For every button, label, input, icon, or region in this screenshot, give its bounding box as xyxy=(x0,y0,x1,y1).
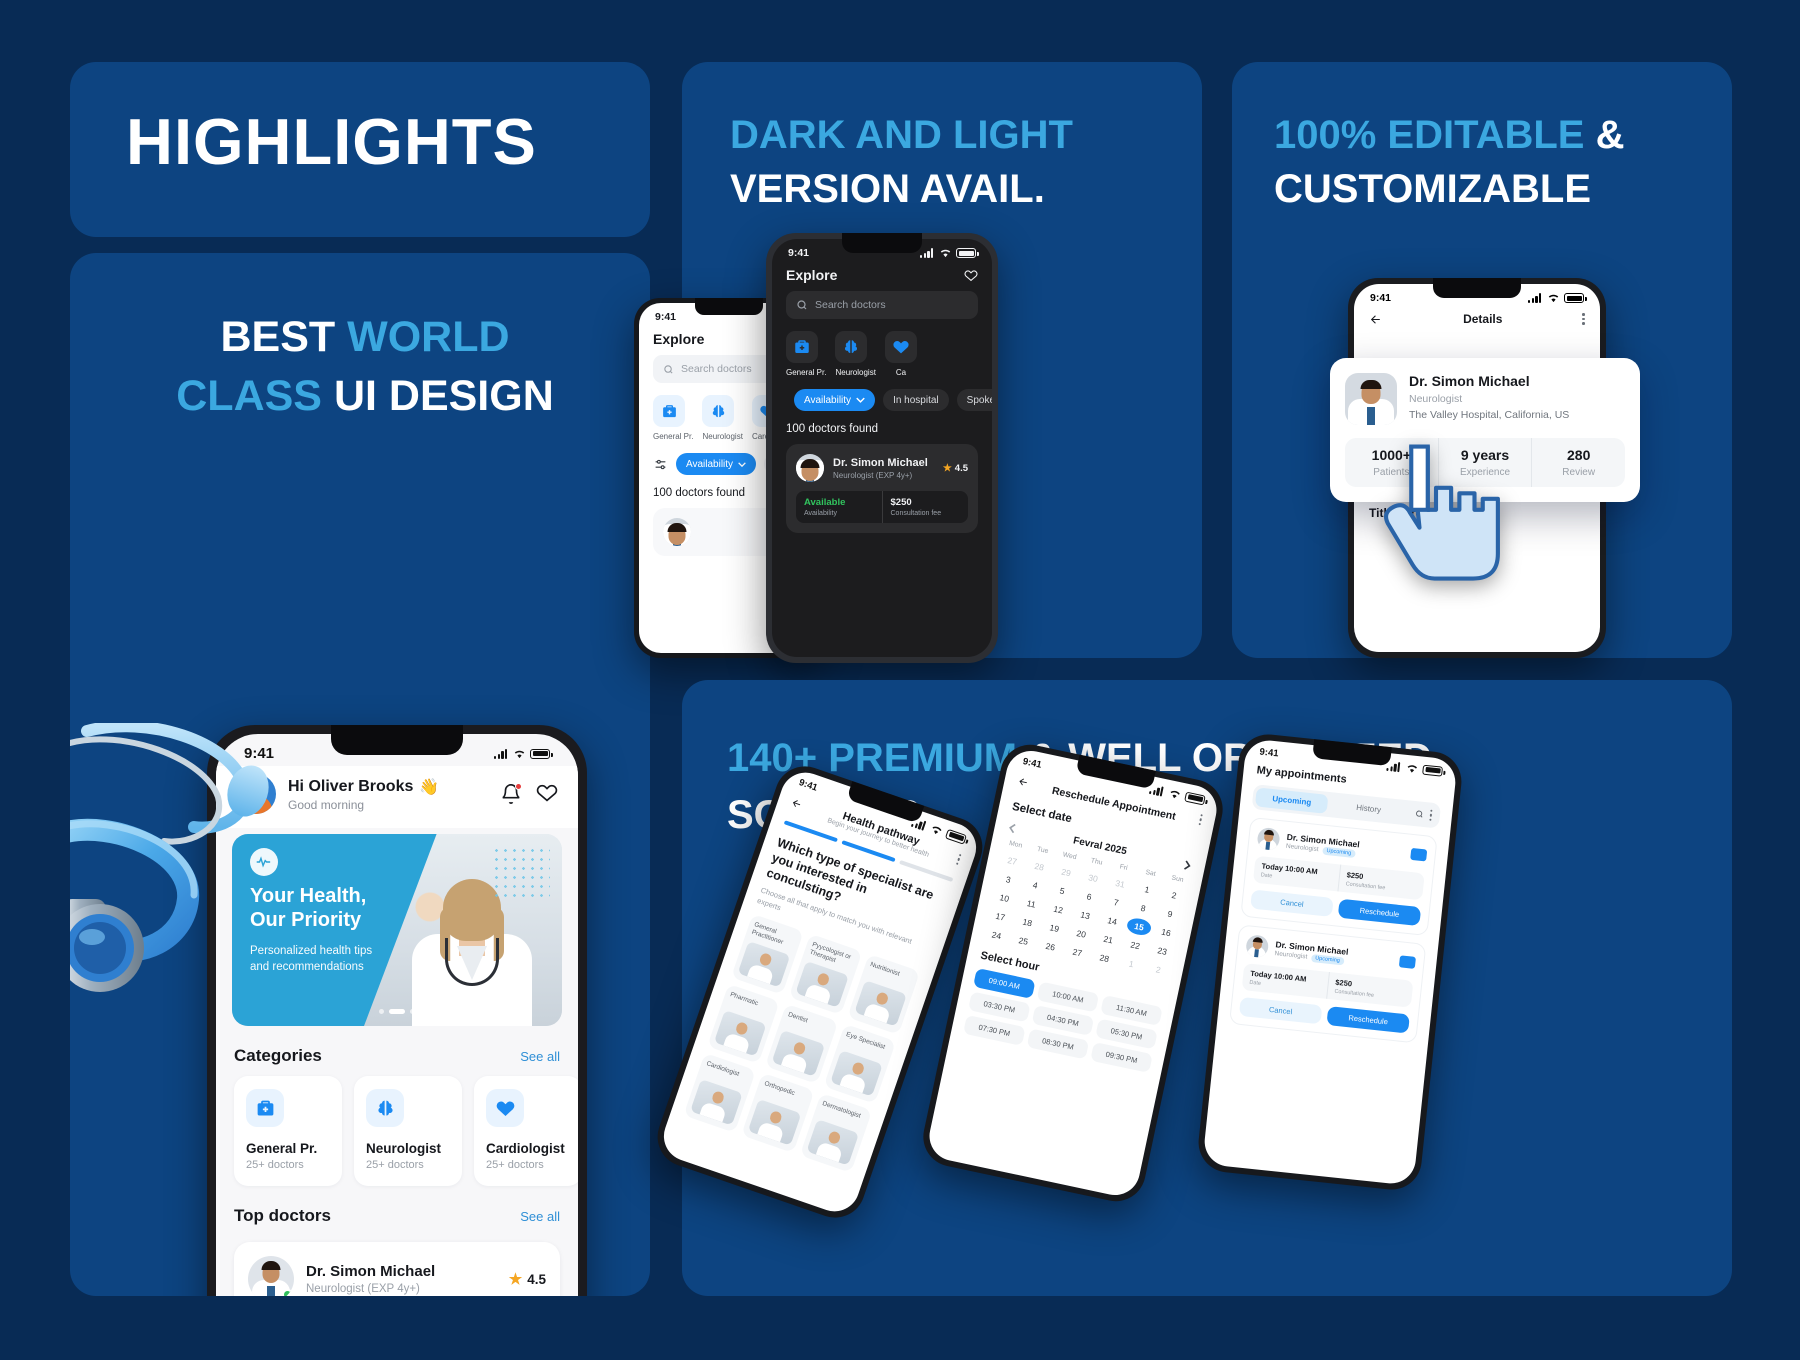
category-neurologist[interactable]: Neurologist xyxy=(835,331,875,377)
signal-icon xyxy=(494,749,509,759)
search-placeholder: Search doctors xyxy=(815,299,886,311)
spoken-chip[interactable]: Spoken l xyxy=(957,389,992,411)
editable-line1-a: 100% EDITABLE xyxy=(1274,113,1584,157)
details-title: Details xyxy=(1463,312,1502,326)
signal-icon xyxy=(920,248,935,258)
category-general[interactable]: General Pr. xyxy=(653,395,693,441)
doctor-name: Dr. Simon Michael xyxy=(1409,373,1569,389)
calendar-weekday: Wed xyxy=(1056,850,1082,864)
star-icon: ★ xyxy=(509,1270,522,1288)
calendar-day[interactable]: 29 xyxy=(1053,862,1080,883)
availability-value: Available xyxy=(804,497,874,508)
explore-dark-screen: 9:41 Explore Search doctors General Pr. xyxy=(772,239,992,657)
calendar-weekday: Thu xyxy=(1083,856,1109,870)
tab-upcoming[interactable]: Upcoming xyxy=(1255,787,1329,813)
doctor-avatar xyxy=(1245,934,1269,958)
calendar-day[interactable]: 5 xyxy=(1049,881,1076,902)
best-line1-a: BEST xyxy=(220,313,347,361)
rating-value: 4.5 xyxy=(955,463,968,474)
fee-cell: $250 Consultation fee xyxy=(1337,864,1425,900)
calendar-weekday: Sat xyxy=(1137,867,1163,881)
categories-row: General Pr. Neurologist Ca xyxy=(772,319,992,377)
banner-pulse-icon xyxy=(250,848,278,876)
category-general[interactable]: General Pr. xyxy=(786,331,826,377)
calendar-day[interactable]: 11 xyxy=(1018,893,1045,914)
wave-icon: 👋 xyxy=(419,777,439,797)
star-icon: ★ xyxy=(943,463,952,474)
categories-see-all[interactable]: See all xyxy=(520,1049,560,1064)
greeting-name-text: Hi Oliver Brooks xyxy=(288,778,413,796)
calendar-day[interactable]: 14 xyxy=(1099,911,1126,932)
highlights-title: HIGHLIGHTS xyxy=(126,104,537,179)
filter-icon[interactable] xyxy=(653,458,668,471)
fee-cell: $250 Consultation fee xyxy=(882,491,969,523)
category-count: 25+ doctors xyxy=(246,1159,330,1171)
availability-label: Availability xyxy=(804,510,874,517)
doctor-avatar xyxy=(1256,827,1280,851)
category-label: Neurologist xyxy=(835,368,875,377)
search-input[interactable]: Search doctors xyxy=(786,291,978,319)
doctor-name: Dr. Simon Michael xyxy=(306,1263,435,1280)
category-neurologist[interactable]: Neurologist xyxy=(702,395,742,441)
medical-bag-icon xyxy=(786,331,818,363)
greeting-block: Hi Oliver Brooks 👋 Good morning xyxy=(288,777,488,812)
status-time: 9:41 xyxy=(1259,747,1279,760)
category-label: Ca xyxy=(885,368,917,377)
panel-best-world-class: BEST WORLD CLASS UI DESIGN 9:41 xyxy=(70,253,650,1296)
doctor-card[interactable]: Dr. Simon Michael Neurologist (EXP 4y+) … xyxy=(786,444,978,533)
medical-bag-icon xyxy=(653,395,685,427)
home-screen: 9:41 Hi Oliver Brooks 👋 xyxy=(216,734,578,1296)
chip-label: In hospital xyxy=(893,395,939,406)
showcase-stage: HIGHLIGHTS BEST WORLD CLASS UI DESIGN 9:… xyxy=(0,0,1800,1360)
dark-light-line1: DARK AND LIGHT xyxy=(730,113,1073,157)
brain-icon xyxy=(366,1089,404,1127)
signal-icon xyxy=(1386,760,1402,772)
doctor-specialty: Neurologist (EXP 4y+) xyxy=(833,471,928,480)
doctor-avatar xyxy=(248,1256,294,1296)
more-vertical-icon[interactable] xyxy=(1429,809,1433,821)
status-time: 9:41 xyxy=(244,745,274,762)
status-icons xyxy=(920,247,976,259)
status-time: 9:41 xyxy=(788,247,809,259)
appointment-card[interactable]: Dr. Simon Michael Neurologist Upcoming T… xyxy=(1240,817,1437,936)
categories-section-header: Categories See all xyxy=(216,1026,578,1076)
calendar-day[interactable]: 23 xyxy=(1149,941,1176,962)
signal-icon xyxy=(1528,293,1543,303)
calendar-weekday: Sun xyxy=(1164,873,1190,887)
dark-light-line2: VERSION AVAIL. xyxy=(730,167,1045,211)
doctor-card[interactable]: Dr. Simon Michael Neurologist (EXP 4y+) … xyxy=(234,1242,560,1296)
chip-label: Availability xyxy=(804,395,851,406)
phone-notch xyxy=(695,298,763,315)
fee-value: $250 xyxy=(891,497,961,508)
category-count: 25+ doctors xyxy=(486,1159,570,1171)
status-icons xyxy=(494,749,550,759)
best-world-class-title: BEST WORLD CLASS UI DESIGN xyxy=(130,308,600,427)
category-name: General Pr. xyxy=(246,1141,330,1156)
status-time: 9:41 xyxy=(1370,292,1391,304)
category-label: General Pr. xyxy=(653,432,693,441)
explore-header: Explore xyxy=(772,261,992,291)
info-card-top: Dr. Simon Michael Neurologist The Valley… xyxy=(1345,373,1625,425)
calendar-day[interactable]: 17 xyxy=(987,906,1014,927)
calendar-day[interactable]: 27 xyxy=(999,851,1026,872)
banner-pagination[interactable] xyxy=(379,1009,415,1014)
editable-title: 100% EDITABLE & CUSTOMIZABLE xyxy=(1274,108,1704,216)
heart-icon[interactable] xyxy=(536,781,558,808)
doctor-specialty: Neurologist xyxy=(1285,843,1318,853)
best-line2-a: CLASS xyxy=(176,372,334,420)
banner-sub-2: and recommendations xyxy=(250,959,372,976)
calendar-day[interactable]: 19 xyxy=(1041,918,1068,939)
category-label: Neurologist xyxy=(702,432,742,441)
doctor-rating: ★ 4.5 xyxy=(509,1270,546,1288)
calendar-day[interactable]: 8 xyxy=(1129,898,1156,919)
details-toolbar: Details xyxy=(1354,306,1600,336)
brain-icon xyxy=(702,395,734,427)
stat-review: 280 Review xyxy=(1531,438,1625,487)
calendar-day[interactable]: 22 xyxy=(1122,935,1149,956)
phone-notch xyxy=(842,233,922,253)
category-name: Cardiologist xyxy=(486,1141,570,1156)
screens-line1-a: 140+ PREMIUM xyxy=(727,736,1017,780)
editable-line2: CUSTOMIZABLE xyxy=(1274,167,1591,211)
wifi-icon xyxy=(1168,788,1183,800)
battery-icon xyxy=(1184,791,1206,805)
fee-label: Consultation fee xyxy=(891,510,961,517)
calendar-day[interactable]: 18 xyxy=(1014,912,1041,933)
calendar-weekday: Mon xyxy=(1003,839,1029,853)
calendar-day[interactable]: 20 xyxy=(1068,923,1095,944)
battery-icon xyxy=(956,248,976,258)
top-doctors-section-header: Top doctors See all xyxy=(216,1186,578,1236)
explore-title: Explore xyxy=(786,267,837,283)
calendar-day[interactable]: 28 xyxy=(1026,856,1053,877)
user-avatar[interactable] xyxy=(236,774,276,814)
date-cell: Today 10:00 AM Date xyxy=(1253,856,1340,892)
wifi-icon xyxy=(1405,762,1419,773)
greeting-name: Hi Oliver Brooks 👋 xyxy=(288,777,488,797)
banner-text: Your Health, Our Priority Personalized h… xyxy=(250,884,372,976)
wifi-icon xyxy=(939,248,952,258)
category-card-general[interactable]: General Pr. 25+ doctors xyxy=(234,1076,342,1186)
cursor-pointer-icon xyxy=(1370,430,1535,595)
chevron-left-icon[interactable] xyxy=(1008,822,1017,833)
category-count: 25+ doctors xyxy=(366,1159,450,1171)
search-icon[interactable] xyxy=(1414,809,1424,819)
doctor-card-footer: Available Availability $250 Consultation… xyxy=(796,491,968,523)
brain-icon xyxy=(835,331,867,363)
chevron-right-icon[interactable] xyxy=(1183,859,1192,870)
calendar-day[interactable]: 30 xyxy=(1079,868,1106,889)
wifi-icon xyxy=(513,749,526,759)
results-count: 100 doctors found xyxy=(772,411,992,435)
fee-cell: $250 Consultation fee xyxy=(1326,972,1414,1008)
doctor-specialty: Neurologist xyxy=(1274,950,1307,960)
categories-title: Categories xyxy=(234,1046,322,1066)
categories-row: General Pr. 25+ doctors Neurologist 25+ … xyxy=(216,1076,578,1186)
cancel-button[interactable]: Cancel xyxy=(1250,889,1334,916)
home-header: Hi Oliver Brooks 👋 Good morning xyxy=(216,766,578,828)
calendar-day[interactable]: 31 xyxy=(1106,873,1133,894)
calendar-day[interactable]: 12 xyxy=(1045,899,1072,920)
banner-sub-1: Personalized health tips xyxy=(250,943,372,960)
chip-label: Availability xyxy=(686,459,733,470)
doctor-specialty: Neurologist (EXP 4y+) xyxy=(306,1283,435,1295)
specialist-option[interactable]: Orthopedic xyxy=(742,1072,815,1152)
appointments-screen: 9:41 My appointments Upcoming History xyxy=(1202,738,1458,1186)
calendar-day[interactable]: 3 xyxy=(995,869,1022,890)
status-icons xyxy=(1528,292,1584,304)
specialist-option[interactable]: Dentist xyxy=(765,1003,838,1083)
tab-history[interactable]: History xyxy=(1332,795,1406,821)
doctor-specialty: Neurologist xyxy=(1409,393,1569,405)
back-arrow-icon[interactable] xyxy=(1369,313,1383,326)
dark-light-title: DARK AND LIGHT VERSION AVAIL. xyxy=(730,108,1160,216)
calendar-day[interactable]: 2 xyxy=(1160,885,1187,906)
calendar-day[interactable]: 1 xyxy=(1133,879,1160,900)
availability-chip[interactable]: Availability xyxy=(676,453,756,475)
category-name: Neurologist xyxy=(366,1141,450,1156)
calendar-day[interactable]: 15 xyxy=(1126,916,1153,937)
signal-icon xyxy=(1149,784,1166,797)
phone-notch xyxy=(331,725,463,755)
category-card-cardiologist[interactable]: Cardiologist 25+ doctors xyxy=(474,1076,578,1186)
calendar-day[interactable]: 7 xyxy=(1103,892,1130,913)
calendar-day[interactable]: 10 xyxy=(991,888,1018,909)
battery-icon xyxy=(1564,293,1584,303)
bell-icon[interactable] xyxy=(500,783,522,805)
doctor-avatar xyxy=(796,454,824,482)
calendar-day[interactable]: 21 xyxy=(1095,929,1122,950)
calendar-weekday: Fri xyxy=(1110,862,1136,876)
cancel-button[interactable]: Cancel xyxy=(1239,997,1323,1024)
doctor-name: Dr. Simon Michael xyxy=(833,457,928,469)
specialist-option[interactable]: Nutritionist xyxy=(847,954,920,1034)
doctor-card-top: Dr. Simon Michael Neurologist (EXP 4y+) … xyxy=(248,1256,546,1296)
editable-line1-b: & xyxy=(1584,113,1624,157)
availability-chip[interactable]: Availability xyxy=(794,389,875,411)
heart-pulse-icon xyxy=(486,1089,524,1127)
heart-pulse-icon xyxy=(885,331,917,363)
specialist-option[interactable]: Eye Specialist xyxy=(823,1023,896,1103)
category-cardiologist[interactable]: Ca xyxy=(885,331,917,377)
doctor-hospital: The Valley Hospital, California, US xyxy=(1409,409,1569,421)
chevron-down-icon xyxy=(738,462,746,467)
hospital-chip[interactable]: In hospital xyxy=(883,389,949,411)
home-banner[interactable]: Your Health, Our Priority Personalized h… xyxy=(232,834,562,1026)
top-doctors-title: Top doctors xyxy=(234,1206,331,1226)
calendar-day[interactable]: 13 xyxy=(1072,905,1099,926)
phone-my-appointments: 9:41 My appointments Upcoming History xyxy=(1196,731,1465,1192)
stat-value: 280 xyxy=(1536,447,1621,463)
search-icon xyxy=(663,364,674,375)
wifi-icon xyxy=(929,823,945,837)
medical-bag-icon xyxy=(246,1089,284,1127)
phone-notch xyxy=(1433,278,1521,298)
best-line1-b: WORLD xyxy=(347,313,509,361)
phone-explore-dark: 9:41 Explore Search doctors General Pr. xyxy=(766,233,998,663)
best-line2-b: UI DESIGN xyxy=(334,372,554,420)
category-card-neurologist[interactable]: Neurologist 25+ doctors xyxy=(354,1076,462,1186)
banner-dot-pattern xyxy=(492,846,550,898)
header-icons xyxy=(500,781,558,808)
video-call-icon[interactable] xyxy=(1410,848,1427,862)
calendar-day[interactable]: 16 xyxy=(1152,922,1179,943)
status-time: 9:41 xyxy=(655,311,676,323)
search-icon xyxy=(796,299,808,311)
appointment-card[interactable]: Dr. Simon Michael Neurologist Upcoming T… xyxy=(1229,924,1426,1043)
filter-row: Availability In hospital Spoken l xyxy=(772,377,992,411)
doctor-avatar xyxy=(1345,373,1397,425)
battery-icon xyxy=(530,749,550,759)
reschedule-button[interactable]: Reschedule xyxy=(1326,1006,1410,1033)
calendar-day[interactable]: 9 xyxy=(1156,904,1183,925)
specialist-option[interactable]: Dermatologist xyxy=(800,1092,873,1172)
greeting-subtitle: Good morning xyxy=(288,798,488,812)
chip-label: Spoken l xyxy=(967,395,992,406)
heart-icon[interactable] xyxy=(964,268,978,282)
search-placeholder: Search doctors xyxy=(681,363,752,375)
calendar-day[interactable]: 6 xyxy=(1076,886,1103,907)
battery-icon xyxy=(1422,764,1443,776)
chevron-down-icon xyxy=(856,397,865,403)
doctor-card-top: Dr. Simon Michael Neurologist (EXP 4y+) … xyxy=(796,454,968,482)
availability-cell: Available Availability xyxy=(796,491,882,523)
doctor-rating: ★ 4.5 xyxy=(943,463,968,474)
reschedule-button[interactable]: Reschedule xyxy=(1338,899,1422,926)
video-call-icon[interactable] xyxy=(1399,955,1416,969)
date-cell: Today 10:00 AM Date xyxy=(1242,963,1329,999)
calendar-weekday: Tue xyxy=(1029,845,1055,859)
category-label: General Pr. xyxy=(786,368,826,377)
banner-title-1: Your Health, xyxy=(250,884,372,908)
rating-value: 4.5 xyxy=(527,1272,546,1287)
panel-highlights: HIGHLIGHTS xyxy=(70,62,650,237)
top-doctors-see-all[interactable]: See all xyxy=(520,1209,560,1224)
wifi-icon xyxy=(1547,293,1560,303)
stat-label: Review xyxy=(1536,467,1621,478)
banner-title-2: Our Priority xyxy=(250,908,372,932)
phone-home-screen: 9:41 Hi Oliver Brooks 👋 xyxy=(207,725,587,1296)
doctor-avatar xyxy=(663,518,691,546)
calendar-day[interactable]: 4 xyxy=(1022,875,1049,896)
more-vertical-icon[interactable] xyxy=(1582,313,1585,325)
